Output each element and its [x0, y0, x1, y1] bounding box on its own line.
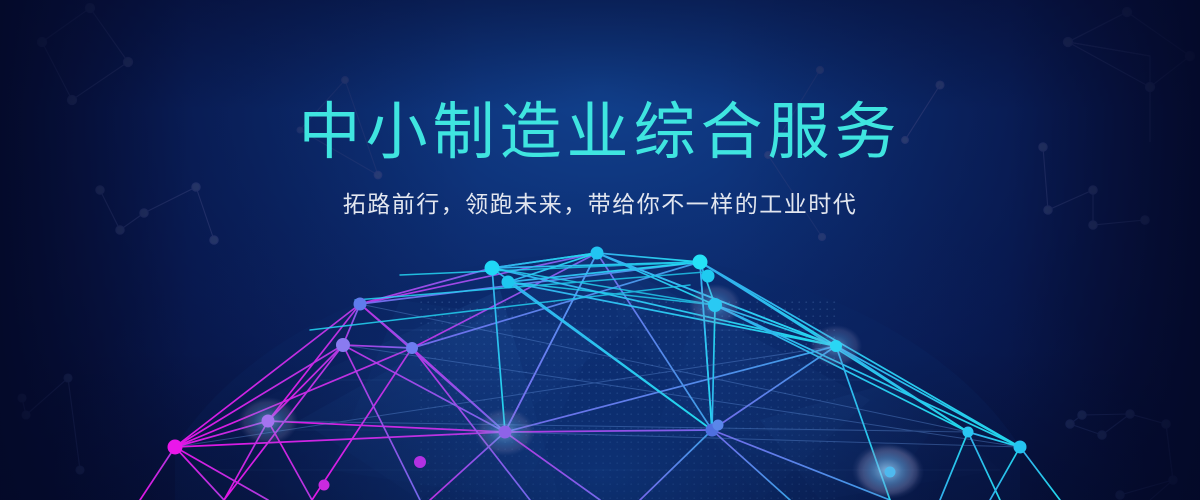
network-dome-graphic: [0, 0, 1200, 500]
hero-text-block: 中小制造业综合服务 拓路前行，领跑未来，带给你不一样的工业时代: [0, 96, 1200, 220]
page-title: 中小制造业综合服务: [0, 96, 1200, 170]
node-halos: [238, 284, 924, 499]
page-subtitle: 拓路前行，领跑未来，带给你不一样的工业时代: [0, 188, 1200, 220]
hero-banner: 中小制造业综合服务 拓路前行，领跑未来，带给你不一样的工业时代: [0, 0, 1200, 500]
